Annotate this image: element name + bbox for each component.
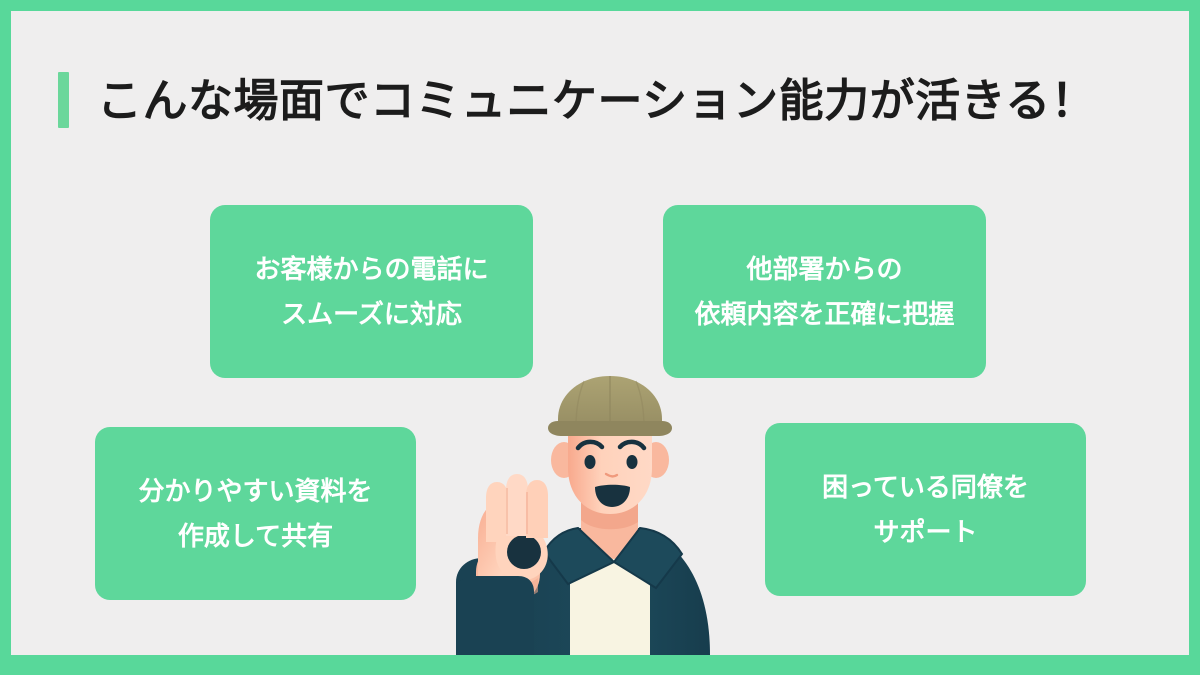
card-line-2: 作成して共有 [178,514,333,559]
card-support-colleague[interactable]: 困っている同僚を サポート [765,423,1086,596]
card-customer-phone[interactable]: お客様からの電話に スムーズに対応 [210,205,533,378]
card-line-1: 分かりやすい資料を [138,469,372,514]
page-title: こんな場面でコミュニケーション能力が活きる！ [58,63,1096,137]
card-clear-documents[interactable]: 分かりやすい資料を 作成して共有 [95,427,416,600]
card-line-1: 他部署からの [746,247,902,292]
slide-canvas: こんな場面でコミュニケーション能力が活きる！ [11,11,1189,655]
title-accent-bar [58,72,69,128]
card-line-1: お客様からの電話に [254,247,488,292]
card-line-2: 依頼内容を正確に把握 [694,292,954,337]
card-line-1: 困っている同僚を [822,465,1029,510]
card-line-2: サポート [873,510,977,555]
card-other-department[interactable]: 他部署からの 依頼内容を正確に把握 [663,205,986,378]
card-line-2: スムーズに対応 [281,292,462,337]
title-text: こんな場面でコミュニケーション能力が活きる！ [97,78,1096,123]
slide-frame: こんな場面でコミュニケーション能力が活きる！ [0,0,1200,675]
smiling-man-ok-gesture-illustration [418,376,782,655]
